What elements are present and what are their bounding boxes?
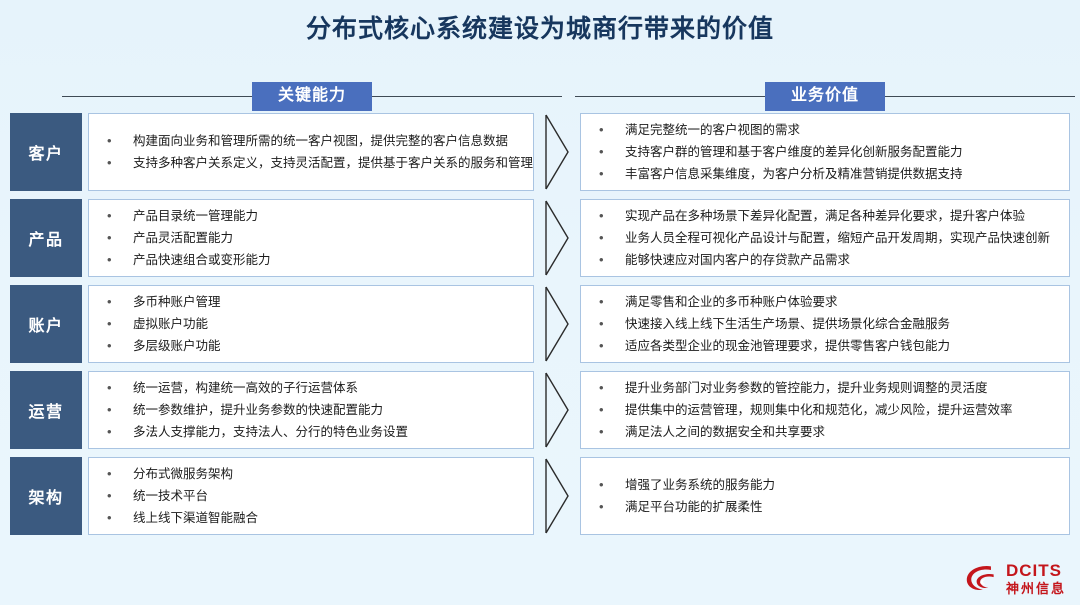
- category-label-3[interactable]: 运营: [10, 371, 82, 449]
- bullet-icon: •: [107, 205, 133, 227]
- bullet-icon: •: [599, 313, 625, 335]
- list-item: •支持客户群的管理和基于客户维度的差异化创新服务配置能力: [599, 141, 1055, 163]
- table-row: 客户•构建面向业务和管理所需的统一客户视图，提供完整的客户信息数据•支持多种客户…: [0, 113, 1080, 191]
- list-item: •增强了业务系统的服务能力: [599, 474, 1055, 496]
- rows-container: 客户•构建面向业务和管理所需的统一客户视图，提供完整的客户信息数据•支持多种客户…: [0, 113, 1080, 543]
- list-item: •统一参数维护，提升业务参数的快速配置能力: [107, 399, 519, 421]
- bullet-icon: •: [599, 421, 625, 443]
- list-item-text: 提供集中的运营管理，规则集中化和规范化，减少风险，提升运营效率: [625, 399, 1055, 421]
- capabilities-panel-1: •产品目录统一管理能力•产品灵活配置能力•产品快速组合或变形能力: [88, 199, 534, 277]
- list-item: •产品目录统一管理能力: [107, 205, 519, 227]
- category-label-2[interactable]: 账户: [10, 285, 82, 363]
- bullet-icon: •: [107, 377, 133, 399]
- list-item: •虚拟账户功能: [107, 313, 519, 335]
- list-item: •多层级账户功能: [107, 335, 519, 357]
- list-item: •快速接入线上线下生活生产场景、提供场景化综合金融服务: [599, 313, 1055, 335]
- list-item: •满足完整统一的客户视图的需求: [599, 119, 1055, 141]
- list-item-text: 统一参数维护，提升业务参数的快速配置能力: [133, 399, 519, 421]
- bullet-icon: •: [107, 130, 133, 152]
- bullet-icon: •: [107, 227, 133, 249]
- values-panel-3: •提升业务部门对业务参数的管控能力，提升业务规则调整的灵活度•提供集中的运营管理…: [580, 371, 1070, 449]
- category-label-4[interactable]: 架构: [10, 457, 82, 535]
- list-item: •分布式微服务架构: [107, 463, 519, 485]
- list-item: •实现产品在多种场景下差异化配置，满足各种差异化要求，提升客户体验: [599, 205, 1055, 227]
- list-item: •适应各类型企业的现金池管理要求，提供零售客户钱包能力: [599, 335, 1055, 357]
- list-item-text: 线上线下渠道智能融合: [133, 507, 519, 529]
- list-item-text: 多币种账户管理: [133, 291, 519, 313]
- bullet-icon: •: [599, 119, 625, 141]
- header-rule-right: [885, 96, 1075, 97]
- list-item-text: 满足法人之间的数据安全和共享要求: [625, 421, 1055, 443]
- list-item: •业务人员全程可视化产品设计与配置，缩短产品开发周期，实现产品快速创新: [599, 227, 1055, 249]
- bullet-icon: •: [107, 291, 133, 313]
- list-item: •能够快速应对国内客户的存贷款产品需求: [599, 249, 1055, 271]
- bullet-icon: •: [107, 313, 133, 335]
- list-item-text: 多法人支撑能力，支持法人、分行的特色业务设置: [133, 421, 519, 443]
- chevron-right-icon: [544, 113, 570, 191]
- values-panel-4: •增强了业务系统的服务能力•满足平台功能的扩展柔性: [580, 457, 1070, 535]
- list-item: •统一运营，构建统一高效的子行运营体系: [107, 377, 519, 399]
- list-item-text: 适应各类型企业的现金池管理要求，提供零售客户钱包能力: [625, 335, 1055, 357]
- table-row: 账户•多币种账户管理•虚拟账户功能•多层级账户功能•满足零售和企业的多币种账户体…: [0, 285, 1080, 363]
- flow-arrow-4: [534, 457, 580, 535]
- bullet-icon: •: [107, 152, 133, 174]
- list-item-text: 统一技术平台: [133, 485, 519, 507]
- table-row: 运营•统一运营，构建统一高效的子行运营体系•统一参数维护，提升业务参数的快速配置…: [0, 371, 1080, 449]
- title-bar: 分布式核心系统建设为城商行带来的价值: [0, 12, 1080, 46]
- bullet-icon: •: [107, 463, 133, 485]
- list-item: •产品灵活配置能力: [107, 227, 519, 249]
- list-item-text: 快速接入线上线下生活生产场景、提供场景化综合金融服务: [625, 313, 1055, 335]
- header-label-values: 业务价值: [765, 82, 885, 111]
- values-panel-0: •满足完整统一的客户视图的需求•支持客户群的管理和基于客户维度的差异化创新服务配…: [580, 113, 1070, 191]
- list-item: •丰富客户信息采集维度，为客户分析及精准营销提供数据支持: [599, 163, 1055, 185]
- list-item-text: 满足零售和企业的多币种账户体验要求: [625, 291, 1055, 313]
- bullet-icon: •: [107, 421, 133, 443]
- flow-arrow-0: [534, 113, 580, 191]
- header-label-capabilities: 关键能力: [252, 82, 372, 111]
- list-item-text: 支持多种客户关系定义，支持灵活配置，提供基于客户关系的服务和管理: [133, 152, 533, 174]
- list-item-text: 产品灵活配置能力: [133, 227, 519, 249]
- capabilities-panel-2: •多币种账户管理•虚拟账户功能•多层级账户功能: [88, 285, 534, 363]
- bullet-icon: •: [599, 474, 625, 496]
- list-item-text: 提升业务部门对业务参数的管控能力，提升业务规则调整的灵活度: [625, 377, 1055, 399]
- list-item-text: 增强了业务系统的服务能力: [625, 474, 1055, 496]
- column-header-capabilities: 关键能力: [62, 82, 562, 110]
- list-item: •统一技术平台: [107, 485, 519, 507]
- bullet-icon: •: [107, 507, 133, 529]
- bullet-icon: •: [107, 249, 133, 271]
- table-row: 产品•产品目录统一管理能力•产品灵活配置能力•产品快速组合或变形能力•实现产品在…: [0, 199, 1080, 277]
- list-item: •产品快速组合或变形能力: [107, 249, 519, 271]
- header-rule-left: [575, 96, 765, 97]
- bullet-icon: •: [599, 377, 625, 399]
- list-item-text: 产品快速组合或变形能力: [133, 249, 519, 271]
- bullet-icon: •: [599, 205, 625, 227]
- list-item: •线上线下渠道智能融合: [107, 507, 519, 529]
- chevron-right-icon: [544, 371, 570, 449]
- list-item: •构建面向业务和管理所需的统一客户视图，提供完整的客户信息数据: [107, 130, 519, 152]
- list-item-text: 产品目录统一管理能力: [133, 205, 519, 227]
- list-item: •多币种账户管理: [107, 291, 519, 313]
- flow-arrow-1: [534, 199, 580, 277]
- logo-chinese: 神州信息: [1006, 582, 1066, 595]
- list-item-text: 分布式微服务架构: [133, 463, 519, 485]
- page-title: 分布式核心系统建设为城商行带来的价值: [0, 12, 1080, 46]
- column-header-values: 业务价值: [575, 82, 1075, 110]
- list-item-text: 构建面向业务和管理所需的统一客户视图，提供完整的客户信息数据: [133, 130, 519, 152]
- list-item-text: 支持客户群的管理和基于客户维度的差异化创新服务配置能力: [625, 141, 1055, 163]
- list-item-text: 多层级账户功能: [133, 335, 519, 357]
- chevron-right-icon: [544, 199, 570, 277]
- list-item-text: 能够快速应对国内客户的存贷款产品需求: [625, 249, 1055, 271]
- capabilities-panel-4: •分布式微服务架构•统一技术平台•线上线下渠道智能融合: [88, 457, 534, 535]
- list-item: •多法人支撑能力，支持法人、分行的特色业务设置: [107, 421, 519, 443]
- header-rule-right: [372, 96, 562, 97]
- list-item: •满足法人之间的数据安全和共享要求: [599, 421, 1055, 443]
- bullet-icon: •: [599, 291, 625, 313]
- list-item-text: 丰富客户信息采集维度，为客户分析及精准营销提供数据支持: [625, 163, 1055, 185]
- chevron-right-icon: [544, 285, 570, 363]
- capabilities-panel-3: •统一运营，构建统一高效的子行运营体系•统一参数维护，提升业务参数的快速配置能力…: [88, 371, 534, 449]
- list-item-text: 满足平台功能的扩展柔性: [625, 496, 1055, 518]
- header-rule-left: [62, 96, 252, 97]
- list-item-text: 统一运营，构建统一高效的子行运营体系: [133, 377, 519, 399]
- bullet-icon: •: [107, 335, 133, 357]
- capabilities-panel-0: •构建面向业务和管理所需的统一客户视图，提供完整的客户信息数据•支持多种客户关系…: [88, 113, 534, 191]
- category-label-0[interactable]: 客户: [10, 113, 82, 191]
- bullet-icon: •: [599, 141, 625, 163]
- bullet-icon: •: [599, 399, 625, 421]
- category-label-1[interactable]: 产品: [10, 199, 82, 277]
- values-panel-2: •满足零售和企业的多币种账户体验要求•快速接入线上线下生活生产场景、提供场景化综…: [580, 285, 1070, 363]
- flow-arrow-2: [534, 285, 580, 363]
- logo-wordmark: DCITS 神州信息: [1006, 562, 1066, 595]
- list-item: •提供集中的运营管理，规则集中化和规范化，减少风险，提升运营效率: [599, 399, 1055, 421]
- chevron-right-icon: [544, 457, 570, 535]
- bullet-icon: •: [599, 496, 625, 518]
- list-item: •支持多种客户关系定义，支持灵活配置，提供基于客户关系的服务和管理: [107, 152, 519, 174]
- values-panel-1: •实现产品在多种场景下差异化配置，满足各种差异化要求，提升客户体验•业务人员全程…: [580, 199, 1070, 277]
- brand-logo: DCITS 神州信息: [964, 561, 1066, 595]
- slide-root: 分布式核心系统建设为城商行带来的价值 关键能力 业务价值 客户•构建面向业务和管…: [0, 0, 1080, 605]
- logo-english: DCITS: [1006, 562, 1066, 579]
- bullet-icon: •: [599, 335, 625, 357]
- bullet-icon: •: [599, 249, 625, 271]
- bullet-icon: •: [107, 485, 133, 507]
- list-item-text: 满足完整统一的客户视图的需求: [625, 119, 1055, 141]
- flow-arrow-3: [534, 371, 580, 449]
- list-item-text: 虚拟账户功能: [133, 313, 519, 335]
- bullet-icon: •: [599, 227, 625, 249]
- table-row: 架构•分布式微服务架构•统一技术平台•线上线下渠道智能融合•增强了业务系统的服务…: [0, 457, 1080, 535]
- bullet-icon: •: [599, 163, 625, 185]
- list-item-text: 业务人员全程可视化产品设计与配置，缩短产品开发周期，实现产品快速创新: [625, 227, 1055, 249]
- dcits-swirl-icon: [964, 561, 1000, 595]
- list-item: •满足零售和企业的多币种账户体验要求: [599, 291, 1055, 313]
- bullet-icon: •: [107, 399, 133, 421]
- list-item: •提升业务部门对业务参数的管控能力，提升业务规则调整的灵活度: [599, 377, 1055, 399]
- list-item: •满足平台功能的扩展柔性: [599, 496, 1055, 518]
- list-item-text: 实现产品在多种场景下差异化配置，满足各种差异化要求，提升客户体验: [625, 205, 1055, 227]
